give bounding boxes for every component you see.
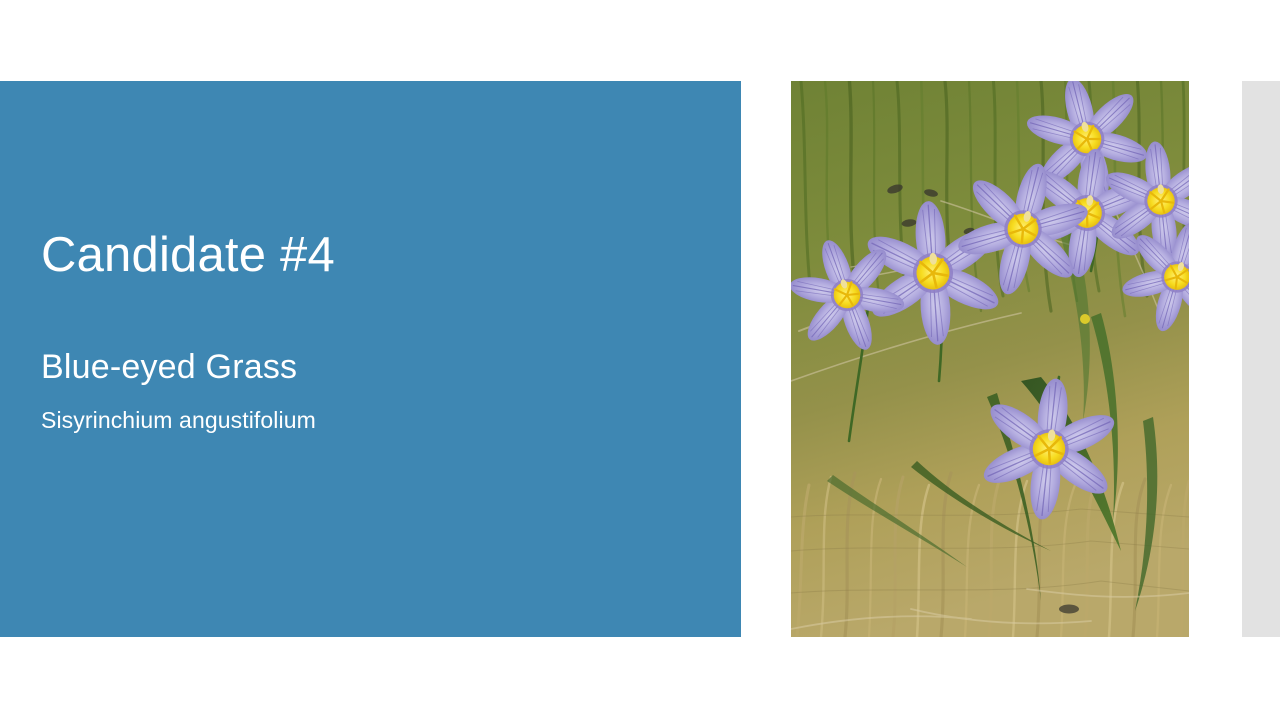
flower-photo-graphic — [791, 81, 1189, 637]
flower-photo — [791, 81, 1189, 637]
seed-pod — [1059, 605, 1079, 614]
page-title: Candidate #4 — [41, 229, 335, 283]
scientific-name-label: Sisyrinchium angustifolium — [41, 407, 316, 435]
title-panel: Candidate #4 Blue-eyed Grass Sisyrinchiu… — [0, 81, 741, 637]
slide: Candidate #4 Blue-eyed Grass Sisyrinchiu… — [0, 0, 1280, 720]
common-name-heading: Blue-eyed Grass — [41, 348, 297, 387]
flower-bud — [1080, 314, 1090, 324]
right-gray-panel — [1242, 81, 1280, 637]
